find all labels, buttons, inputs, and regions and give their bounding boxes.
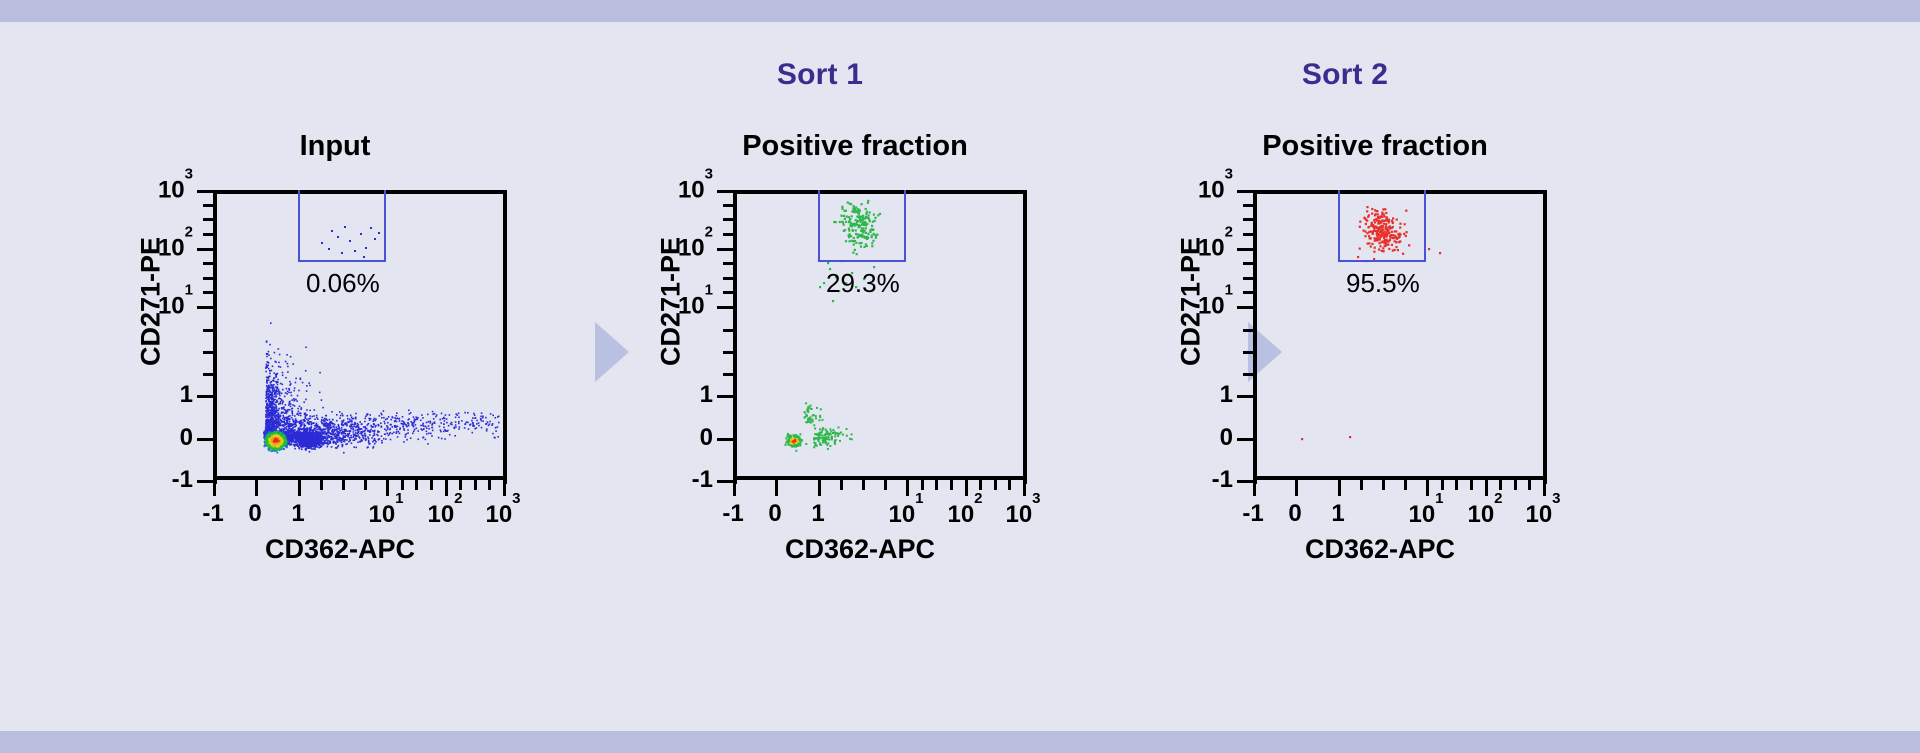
y-tick-major	[717, 438, 733, 441]
y-tick-major	[197, 395, 213, 398]
x-tick-major	[818, 480, 821, 496]
gate-rect-sort2	[1338, 190, 1426, 262]
y-tick-label: 1	[1220, 381, 1233, 409]
x-tick-major	[213, 480, 216, 496]
x-tick-minor	[950, 480, 953, 490]
y-tick-minor	[203, 291, 213, 294]
x-tick-minor	[474, 480, 477, 490]
x-tick-label: 101	[1408, 500, 1443, 529]
top-band	[0, 0, 1920, 22]
x-tick-label: 103	[1525, 500, 1560, 529]
y-tick-minor	[1243, 218, 1253, 221]
x-tick-major	[733, 480, 736, 496]
y-tick-minor	[723, 291, 733, 294]
x-tick-major	[1023, 480, 1026, 496]
x-tick-major	[1485, 480, 1488, 496]
x-tick-minor	[1008, 480, 1011, 490]
y-tick-minor	[1243, 373, 1253, 376]
y-tick-label: 0	[180, 424, 193, 452]
axis-line-right	[503, 190, 507, 484]
x-tick-major	[1543, 480, 1546, 496]
y-tick-major	[1237, 438, 1253, 441]
x-tick-minor	[401, 480, 404, 490]
y-tick-major	[1237, 395, 1253, 398]
y-tick-minor	[723, 277, 733, 280]
y-tick-major	[197, 480, 213, 483]
x-tick-label: 101	[368, 500, 403, 529]
y-tick-minor	[723, 233, 733, 236]
x-tick-minor	[488, 480, 491, 490]
y-tick-minor	[203, 351, 213, 354]
gate-rect-input	[298, 190, 386, 262]
sort-heading-1: Sort 1	[585, 58, 1055, 92]
y-tick-minor	[203, 262, 213, 265]
x-tick-minor	[1499, 480, 1502, 490]
x-tick-major	[386, 480, 389, 496]
gate-percent-sort2: 95.5%	[1346, 268, 1420, 299]
panel-title-sort1: Positive fraction	[620, 130, 1090, 163]
plot-input: CD271-PE CD362-APC	[100, 182, 570, 590]
figure-stage: Sort 1 Sort 2 Input CD271-PE CD362-APC	[0, 22, 1920, 731]
x-axis-label: CD362-APC	[680, 534, 1040, 565]
y-tick-minor	[723, 329, 733, 332]
y-tick-major	[1237, 306, 1253, 309]
y-tick-major	[717, 306, 733, 309]
x-tick-minor	[979, 480, 982, 490]
gate-percent-sort1: 29.3%	[826, 268, 900, 299]
x-tick-label: 103	[485, 500, 520, 529]
x-tick-minor	[935, 480, 938, 490]
x-tick-label: -1	[1242, 500, 1263, 528]
y-tick-minor	[203, 329, 213, 332]
y-tick-major	[717, 190, 733, 193]
y-tick-minor	[203, 277, 213, 280]
y-tick-minor	[1243, 329, 1253, 332]
panel-title-sort2: Positive fraction	[1140, 130, 1610, 163]
y-tick-label: 103	[158, 176, 193, 205]
y-tick-label: 101	[678, 292, 713, 321]
plot-sort1: CD271-PE CD362-APC	[620, 182, 1090, 590]
x-tick-minor	[430, 480, 433, 490]
panel-sort2-positive: Positive fraction CD271-PE CD362-APC	[1140, 130, 1610, 590]
axes-sort2: 103 102 101 1 0 -1	[1253, 190, 1543, 480]
y-tick-minor	[723, 373, 733, 376]
x-tick-major	[1426, 480, 1429, 496]
y-tick-major	[197, 438, 213, 441]
x-axis-label: CD362-APC	[1200, 534, 1560, 565]
x-tick-minor	[884, 480, 887, 490]
y-tick-label: 102	[158, 234, 193, 263]
x-tick-major	[503, 480, 506, 496]
y-tick-minor	[723, 351, 733, 354]
x-tick-minor	[364, 480, 367, 490]
y-tick-minor	[203, 373, 213, 376]
y-tick-label: -1	[1212, 466, 1233, 494]
y-tick-minor	[723, 204, 733, 207]
x-tick-label: -1	[722, 500, 743, 528]
gate-percent-input: 0.06%	[306, 268, 380, 299]
x-tick-minor	[320, 480, 323, 490]
x-tick-minor	[994, 480, 997, 490]
x-tick-label: 102	[947, 500, 982, 529]
y-tick-label: 101	[158, 292, 193, 321]
x-tick-minor	[459, 480, 462, 490]
x-tick-minor	[1382, 480, 1385, 490]
x-tick-minor	[1404, 480, 1407, 490]
x-tick-label: 1	[811, 500, 824, 528]
y-tick-minor	[1243, 233, 1253, 236]
y-tick-label: 101	[1198, 292, 1233, 321]
axis-line-right	[1023, 190, 1027, 484]
y-tick-minor	[1243, 262, 1253, 265]
x-tick-major	[965, 480, 968, 496]
x-tick-minor	[1441, 480, 1444, 490]
y-tick-minor	[1243, 351, 1253, 354]
y-tick-minor	[203, 233, 213, 236]
y-tick-major	[197, 248, 213, 251]
y-tick-major	[717, 480, 733, 483]
y-tick-major	[717, 395, 733, 398]
y-tick-major	[717, 248, 733, 251]
x-tick-major	[906, 480, 909, 496]
x-tick-minor	[1528, 480, 1531, 490]
y-tick-label: 103	[678, 176, 713, 205]
x-tick-label: 102	[427, 500, 462, 529]
gate-rect-sort1	[818, 190, 906, 262]
y-tick-label: 103	[1198, 176, 1233, 205]
y-tick-minor	[1243, 291, 1253, 294]
x-tick-label: 101	[888, 500, 923, 529]
y-tick-label: 102	[1198, 234, 1233, 263]
y-tick-label: -1	[692, 466, 713, 494]
y-tick-minor	[1243, 277, 1253, 280]
x-tick-major	[445, 480, 448, 496]
x-tick-major	[1338, 480, 1341, 496]
x-tick-major	[255, 480, 258, 496]
y-tick-minor	[723, 218, 733, 221]
y-tick-major	[1237, 248, 1253, 251]
x-tick-label: 0	[768, 500, 781, 528]
y-tick-major	[1237, 190, 1253, 193]
y-tick-label: 0	[1220, 424, 1233, 452]
x-tick-minor	[1470, 480, 1473, 490]
x-tick-label: 1	[1331, 500, 1344, 528]
x-tick-minor	[862, 480, 865, 490]
y-tick-label: 1	[700, 381, 713, 409]
y-tick-major	[1237, 480, 1253, 483]
x-tick-label: 102	[1467, 500, 1502, 529]
x-tick-major	[775, 480, 778, 496]
x-tick-major	[1295, 480, 1298, 496]
bottom-band	[0, 731, 1920, 753]
sort-heading-2: Sort 2	[1110, 58, 1580, 92]
x-tick-minor	[840, 480, 843, 490]
y-tick-minor	[203, 204, 213, 207]
y-tick-major	[197, 306, 213, 309]
x-tick-major	[1253, 480, 1256, 496]
y-tick-label: 0	[700, 424, 713, 452]
x-tick-label: 0	[248, 500, 261, 528]
y-tick-major	[197, 190, 213, 193]
panel-title-input: Input	[100, 130, 570, 163]
plot-sort2: CD271-PE CD362-APC	[1140, 182, 1610, 590]
x-tick-label: 1	[291, 500, 304, 528]
x-tick-minor	[1514, 480, 1517, 490]
x-tick-major	[298, 480, 301, 496]
x-tick-minor	[342, 480, 345, 490]
x-tick-minor	[415, 480, 418, 490]
x-tick-label: -1	[202, 500, 223, 528]
y-tick-label: -1	[172, 466, 193, 494]
x-tick-label: 103	[1005, 500, 1040, 529]
y-tick-minor	[1243, 204, 1253, 207]
y-tick-minor	[723, 262, 733, 265]
axes-sort1: 103 102 101 1 0 -1	[733, 190, 1023, 480]
x-tick-minor	[921, 480, 924, 490]
axes-input: 103 102 101 1 0 -1	[213, 190, 503, 480]
panel-input: Input CD271-PE CD362-APC	[100, 130, 570, 590]
x-tick-label: 0	[1288, 500, 1301, 528]
x-axis-label: CD362-APC	[160, 534, 520, 565]
x-tick-minor	[1455, 480, 1458, 490]
y-tick-label: 102	[678, 234, 713, 263]
panel-sort1-positive: Positive fraction CD271-PE CD362-APC	[620, 130, 1090, 590]
y-tick-label: 1	[180, 381, 193, 409]
x-tick-minor	[1360, 480, 1363, 490]
axis-line-right	[1543, 190, 1547, 484]
y-tick-minor	[203, 218, 213, 221]
